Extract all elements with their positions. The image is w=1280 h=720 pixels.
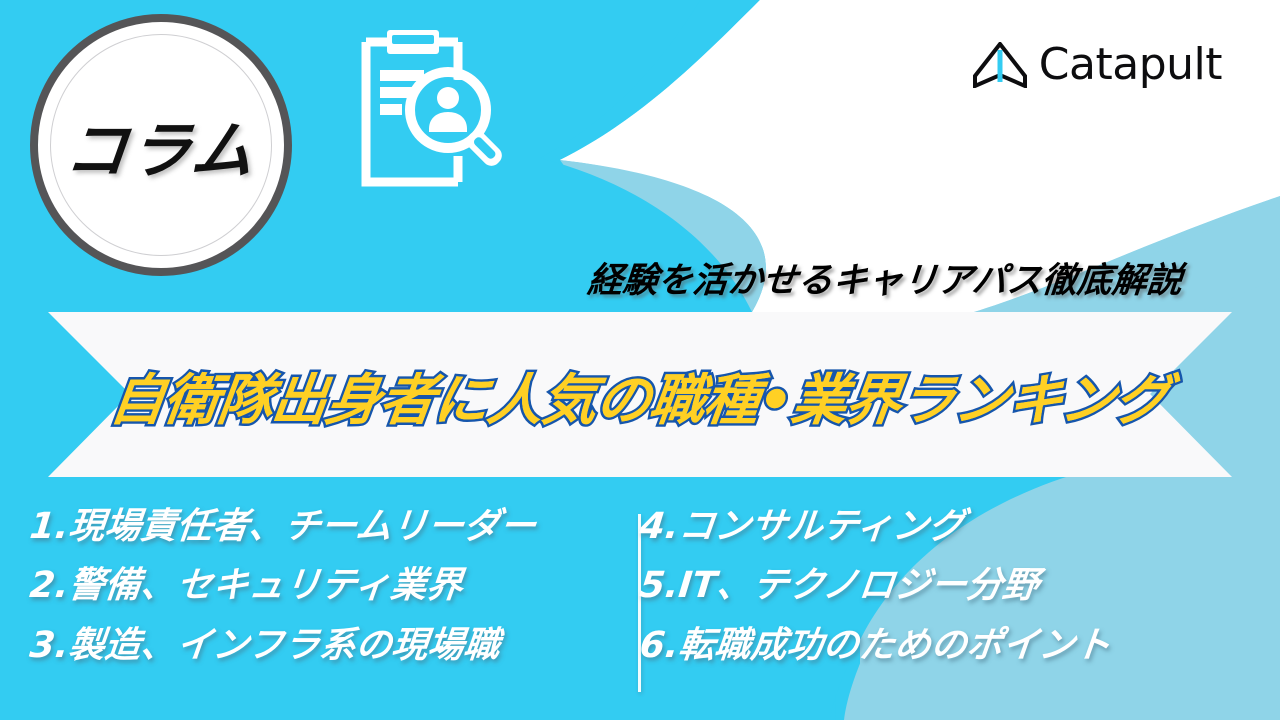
list-item[interactable]: 4.コンサルティング	[637, 500, 1255, 553]
brand-name: Catapult	[1039, 43, 1222, 87]
topic-list-right: 4.コンサルティング 5.IT、テクノロジー分野 6.転職成功のためのポイント	[612, 500, 1252, 720]
badge-label: コラム	[61, 100, 261, 190]
catapult-chevron-logo-icon	[973, 42, 1027, 88]
list-item[interactable]: 5.IT、テクノロジー分野	[637, 559, 1255, 612]
slide-canvas: コラム Catapult	[0, 0, 1280, 720]
list-item[interactable]: 1.現場責任者、チームリーダー	[27, 500, 615, 553]
topic-lists: 1.現場責任者、チームリーダー 2.警備、セキュリティ業界 3.製造、インフラ系…	[0, 500, 1280, 720]
topic-list-left: 1.現場責任者、チームリーダー 2.警備、セキュリティ業界 3.製造、インフラ系…	[0, 500, 612, 720]
banner-title: 自衛隊出身者に人気の職種•業界ランキング	[0, 312, 1280, 477]
list-item[interactable]: 6.転職成功のためのポイント	[637, 619, 1255, 672]
title-banner: 自衛隊出身者に人気の職種•業界ランキング 自衛隊出身者に人気の職種•業界ランキン…	[0, 312, 1280, 477]
list-item[interactable]: 2.警備、セキュリティ業界	[27, 559, 615, 612]
column-badge: コラム	[30, 14, 292, 276]
list-item[interactable]: 3.製造、インフラ系の現場職	[27, 619, 615, 672]
brand-logo: Catapult	[973, 42, 1222, 88]
subtitle-text: 経験を活かせるキャリアパス徹底解説	[585, 252, 1184, 303]
clipboard-person-search-icon	[330, 24, 510, 189]
